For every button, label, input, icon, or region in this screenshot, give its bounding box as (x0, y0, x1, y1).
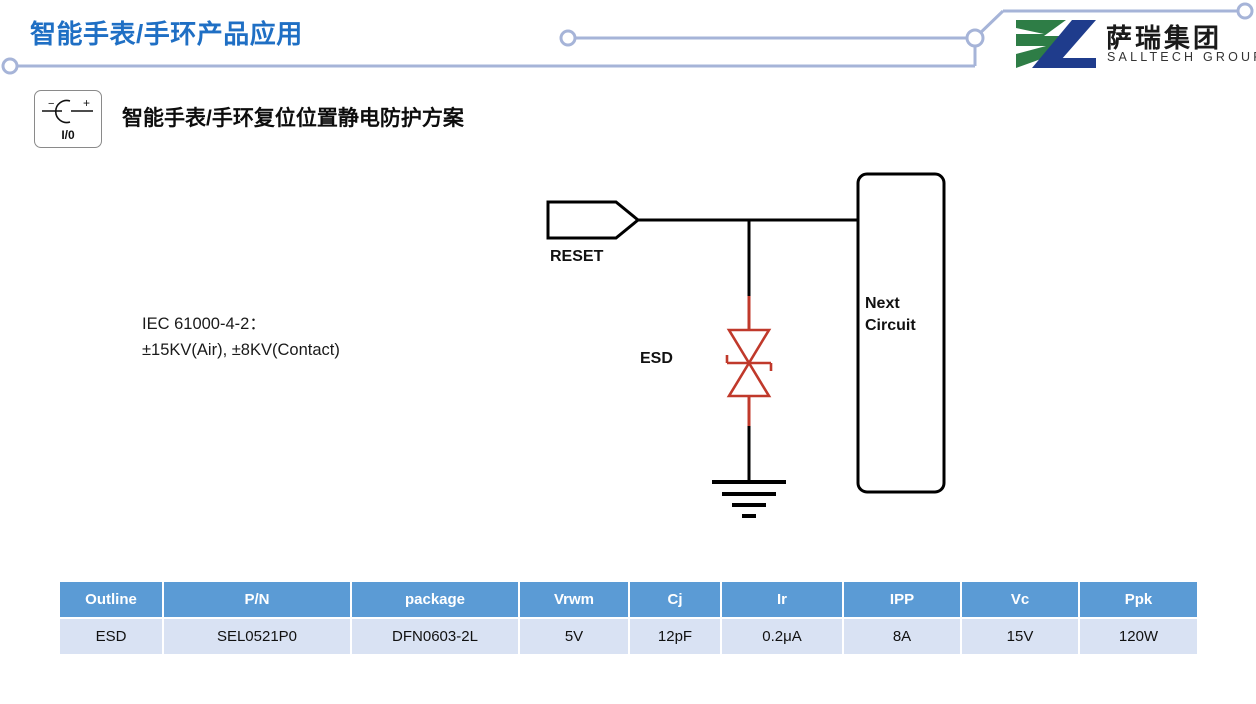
esd-standard-note: IEC 61000-4-2： ±15KV(Air), ±8KV(Contact) (142, 312, 340, 363)
table-cell: 5V (519, 618, 629, 654)
table-header-cell: P/N (163, 582, 351, 618)
table-header-cell: Cj (629, 582, 721, 618)
table-cell: 120W (1079, 618, 1197, 654)
table-header-cell: Ir (721, 582, 843, 618)
table-row: ESD SEL0521P0 DFN0603-2L 5V 12pF 0.2μA 8… (60, 618, 1197, 654)
logo-name-en: SALLTECH GROUP (1107, 50, 1256, 64)
io-badge-label: I/0 (35, 128, 101, 142)
table-cell: 8A (843, 618, 961, 654)
table-header-row: Outline P/N package Vrwm Cj Ir IPP Vc Pp… (60, 582, 1197, 618)
table-cell: DFN0603-2L (351, 618, 519, 654)
svg-text:−: − (48, 98, 54, 110)
circuit-schematic-svg (520, 160, 980, 530)
next-circuit-line1: Next (865, 293, 945, 315)
page-title: 智能手表/手环产品应用 (30, 14, 303, 51)
brand-logo: 萨瑞集团 SALLTECH GROUP (1010, 18, 1250, 78)
io-badge-icon: − + I/0 (34, 90, 102, 148)
table-cell: 15V (961, 618, 1079, 654)
ground-symbol-icon (712, 482, 786, 516)
svg-text:+: + (83, 96, 90, 110)
esd-tvs-diode-icon (727, 296, 771, 428)
table-header-cell: IPP (843, 582, 961, 618)
esd-standard-line2: ±15KV(Air), ±8KV(Contact) (142, 338, 340, 364)
table-cell: 12pF (629, 618, 721, 654)
esd-label: ESD (640, 350, 673, 368)
logo-mark-icon (1010, 20, 1096, 68)
table-header-cell: Vc (961, 582, 1079, 618)
table-header-cell: Outline (60, 582, 163, 618)
table-cell: 0.2μA (721, 618, 843, 654)
table-cell: SEL0521P0 (163, 618, 351, 654)
table-cell: ESD (60, 618, 163, 654)
table-header-cell: Vrwm (519, 582, 629, 618)
parameter-table: Outline P/N package Vrwm Cj Ir IPP Vc Pp… (60, 582, 1197, 654)
section-subtitle: 智能手表/手环复位位置静电防护方案 (122, 102, 464, 132)
esd-standard-line1: IEC 61000-4-2： (142, 312, 340, 338)
reset-label: RESET (550, 248, 603, 266)
next-circuit-label: Next Circuit (865, 293, 945, 336)
table-header-cell: package (351, 582, 519, 618)
next-circuit-line2: Circuit (865, 315, 945, 337)
reset-connector-icon (548, 202, 638, 238)
table-header-cell: Ppk (1079, 582, 1197, 618)
circuit-diagram: RESET ESD Next Circuit (520, 160, 980, 530)
